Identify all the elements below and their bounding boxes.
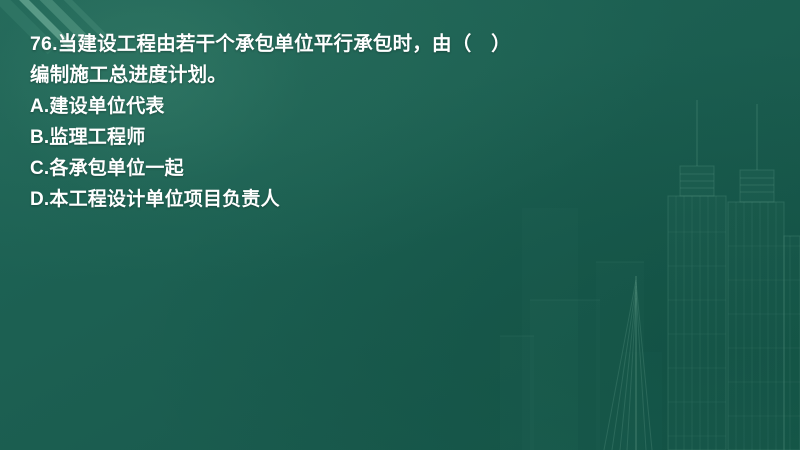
option-c[interactable]: C.各承包单位一起: [30, 153, 760, 184]
option-d[interactable]: D.本工程设计单位项目负责人: [30, 184, 760, 215]
option-a[interactable]: A.建设单位代表: [30, 91, 760, 122]
slide-canvas: 76.当建设工程由若干个承包单位平行承包时，由（ ） 编制施工总进度计划。 A.…: [0, 0, 800, 450]
question-block: 76.当建设工程由若干个承包单位平行承包时，由（ ） 编制施工总进度计划。 A.…: [30, 29, 760, 215]
option-b[interactable]: B.监理工程师: [30, 122, 760, 153]
question-line-1: 76.当建设工程由若干个承包单位平行承包时，由（ ）: [30, 29, 760, 60]
question-line-2: 编制施工总进度计划。: [30, 60, 760, 91]
